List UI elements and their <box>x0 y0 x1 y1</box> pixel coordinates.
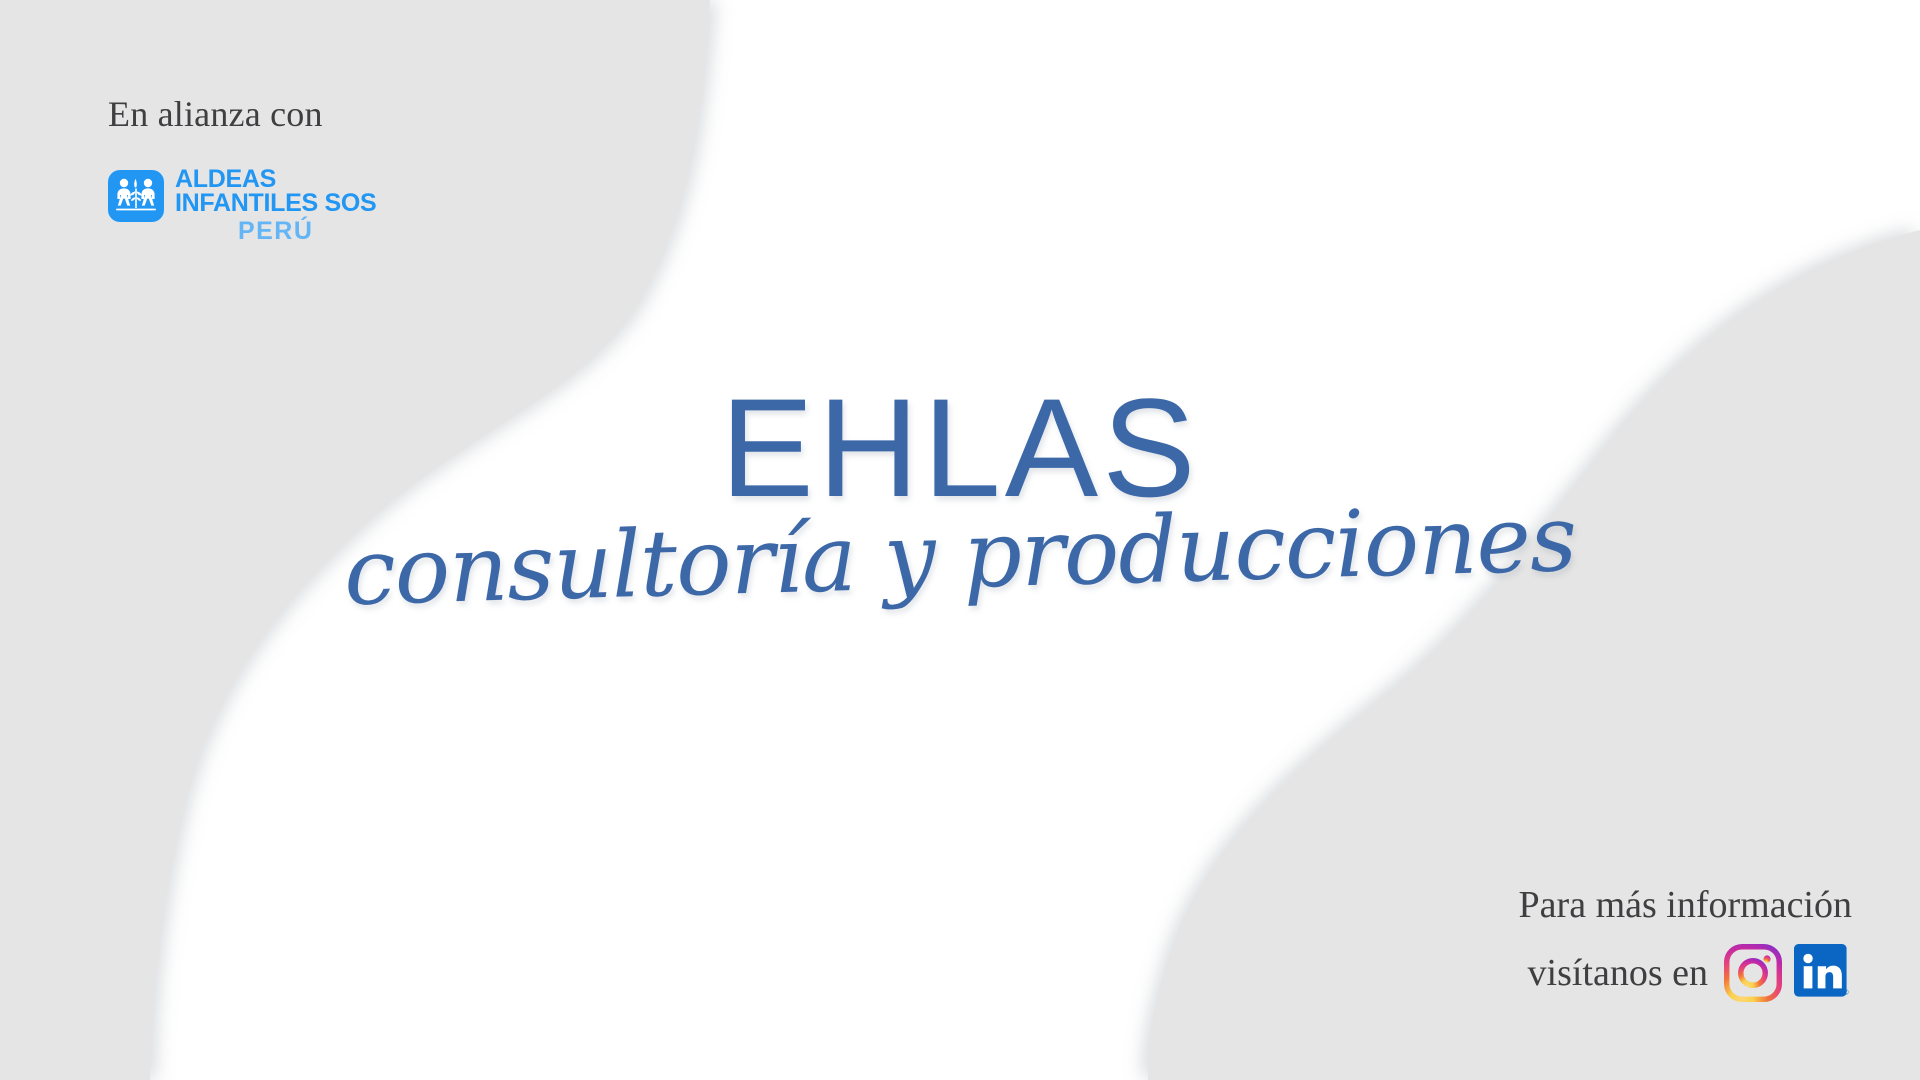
contact-line-2-row: visítanos en <box>1519 944 1852 1002</box>
two-children-with-plant-icon <box>108 170 164 222</box>
alliance-block: En alianza con <box>108 95 538 243</box>
aldeas-line-3: PERÚ <box>175 219 376 244</box>
linkedin-icon[interactable]: ® <box>1794 944 1852 1002</box>
slide-canvas: En alianza con <box>0 0 1920 1080</box>
contact-line-1: Para más información <box>1519 886 1852 926</box>
aldeas-infantiles-sos-logo: ALDEAS INFANTILES SOS PERÚ <box>108 167 538 244</box>
alliance-caption: En alianza con <box>108 95 538 135</box>
aldeas-line-2: INFANTILES SOS <box>175 191 376 216</box>
aldeas-wordmark: ALDEAS INFANTILES SOS PERÚ <box>175 167 376 244</box>
linkedin-trademark: ® <box>1843 988 1849 997</box>
instagram-icon[interactable] <box>1724 944 1782 1002</box>
brand-lockup: EHLAS consultoría y producciones <box>0 378 1920 602</box>
social-icons: ® <box>1724 944 1852 1002</box>
aldeas-line-1: ALDEAS <box>175 167 376 192</box>
contact-block: Para más información visítanos en <box>1519 886 1852 1002</box>
contact-line-2: visítanos en <box>1528 951 1708 995</box>
